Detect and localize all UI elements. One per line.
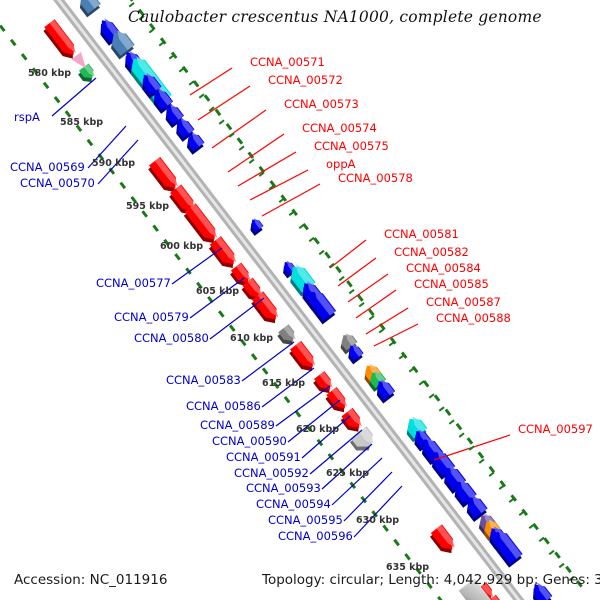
scale-tick-label: 600 kbp bbox=[160, 241, 203, 252]
gene-label[interactable]: CCNA_00593 bbox=[246, 481, 321, 495]
gene-label[interactable]: CCNA_00569 bbox=[10, 160, 85, 174]
gene-label[interactable]: CCNA_00571 bbox=[250, 55, 325, 69]
gene-label[interactable]: CCNA_00574 bbox=[302, 121, 377, 135]
gene-label[interactable]: CCNA_00586 bbox=[186, 399, 261, 413]
gene-label[interactable]: CCNA_00579 bbox=[114, 310, 189, 324]
topology-text: Topology: circular; Length: 4,042,929 bp… bbox=[262, 572, 600, 588]
scale-tick-label: 580 kbp bbox=[28, 68, 71, 79]
gene-label[interactable]: CCNA_00597 bbox=[518, 422, 593, 436]
scale-tick-label: 590 kbp bbox=[92, 158, 135, 169]
gene-feature[interactable] bbox=[288, 341, 320, 376]
gene-label[interactable]: CCNA_00578 bbox=[338, 171, 413, 185]
gene-label[interactable]: CCNA_00580 bbox=[134, 331, 209, 345]
scale-tick-label: 610 kbp bbox=[230, 333, 273, 344]
gene-label[interactable]: oppA bbox=[326, 157, 356, 171]
scale-tick-label: 585 kbp bbox=[60, 117, 103, 128]
gene-label[interactable]: rspA bbox=[14, 110, 40, 124]
gene-label[interactable]: CCNA_00577 bbox=[96, 276, 171, 290]
gene-label[interactable]: CCNA_00591 bbox=[226, 450, 301, 464]
genome-map-canvas[interactable]: Caulobacter crescentus NA1000, complete … bbox=[0, 0, 600, 600]
scale-tick-label: 620 kbp bbox=[296, 424, 339, 435]
gene-feature[interactable] bbox=[77, 63, 99, 85]
page-title: Caulobacter crescentus NA1000, complete … bbox=[128, 8, 542, 26]
scale-tick-label: 630 kbp bbox=[356, 515, 399, 526]
scale-tick-label: 595 kbp bbox=[126, 201, 169, 212]
gene-label[interactable]: CCNA_00585 bbox=[414, 277, 489, 291]
gene-label[interactable]: CCNA_00572 bbox=[268, 73, 343, 87]
gene-label[interactable]: CCNA_00575 bbox=[314, 139, 389, 153]
gene-feature[interactable] bbox=[428, 524, 459, 557]
gene-label[interactable]: CCNA_00589 bbox=[200, 418, 275, 432]
gene-label[interactable]: CCNA_00581 bbox=[384, 227, 459, 241]
scale-tick-label: 625 kbp bbox=[326, 468, 369, 479]
gene-label[interactable]: CCNA_00588 bbox=[436, 311, 511, 325]
gene-feature[interactable] bbox=[74, 0, 103, 17]
gene-label[interactable]: CCNA_00587 bbox=[426, 295, 501, 309]
gene-label[interactable]: CCNA_00592 bbox=[234, 466, 309, 480]
gene-label[interactable]: CCNA_00583 bbox=[166, 373, 241, 387]
gene-label[interactable]: CCNA_00584 bbox=[406, 261, 481, 275]
gene-label[interactable]: CCNA_00595 bbox=[268, 513, 343, 527]
gene-label[interactable]: CCNA_00596 bbox=[278, 529, 353, 543]
scale-tick-label: 605 kbp bbox=[196, 286, 239, 297]
gene-feature[interactable] bbox=[246, 216, 265, 235]
gene-label[interactable]: CCNA_00582 bbox=[394, 245, 469, 259]
gene-label[interactable]: CCNA_00573 bbox=[284, 97, 359, 111]
gene-label[interactable]: CCNA_00590 bbox=[212, 434, 287, 448]
accession-text: Accession: NC_011916 bbox=[14, 572, 167, 588]
gene-label[interactable]: CCNA_00570 bbox=[20, 176, 95, 190]
scale-tick-label: 615 kbp bbox=[262, 378, 305, 389]
gene-label[interactable]: CCNA_00594 bbox=[256, 497, 331, 511]
